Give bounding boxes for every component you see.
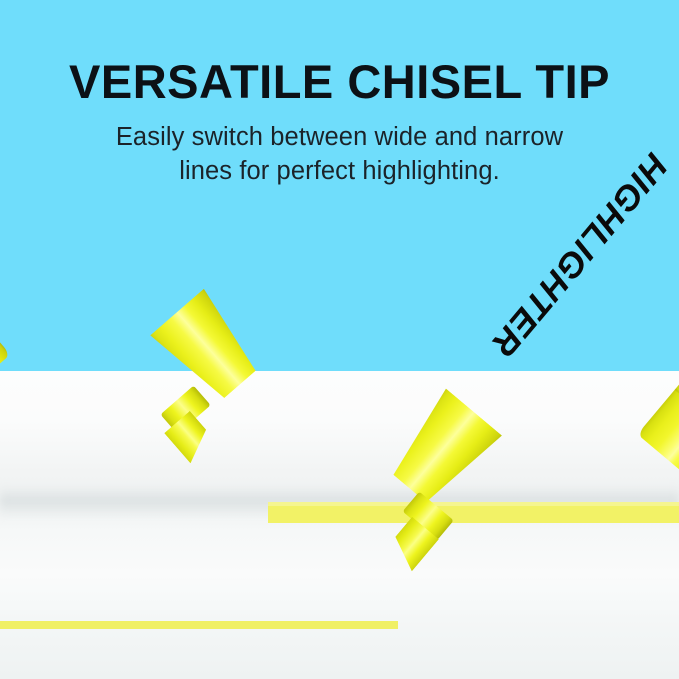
barrel-seam-ring [675,388,679,441]
pen-shoulder-left [149,288,268,409]
subcopy-line-1: Easily switch between wide and narrow [0,121,679,155]
pen-shoulder-right [381,388,503,513]
product-feature-banner: VERSATILE CHISEL TIP Easily switch betwe… [0,0,679,679]
subcopy-line-2: lines for perfect highlighting. [0,155,679,189]
headline: VERSATILE CHISEL TIP [0,58,679,105]
marketing-copy-block: VERSATILE CHISEL TIP Easily switch betwe… [0,58,679,189]
subcopy: Easily switch between wide and narrow li… [0,121,679,189]
